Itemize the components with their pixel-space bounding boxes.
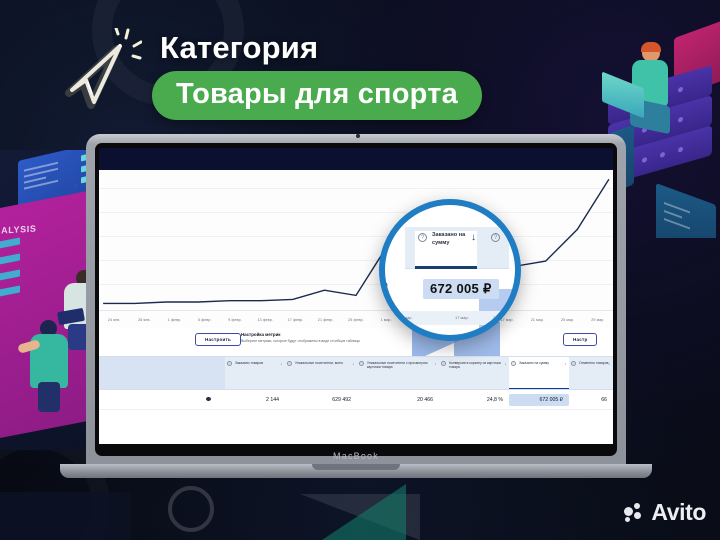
magnified-value: 672 005 ₽ <box>423 279 499 299</box>
laptop-mockup: 24 янв. 28 янв. 1 февр. 5 февр. 9 февр. … <box>86 134 626 484</box>
x-tick: 29 мар. <box>583 318 613 322</box>
arrow-down-icon[interactable]: ↓ <box>352 361 354 366</box>
table-header-cell[interactable]: ? ↓ Заказано товаров <box>225 357 285 389</box>
x-tick: 17 февр. <box>280 318 310 322</box>
watermark-ring <box>168 486 214 532</box>
question-circle-icon[interactable]: ? <box>491 233 500 242</box>
x-tick: 13 февр. <box>250 318 280 322</box>
laptop-screen: 24 янв. 28 янв. 1 февр. 5 февр. 9 февр. … <box>99 148 613 444</box>
table-cell: 2 144 <box>225 394 285 406</box>
x-tick: 21 мар. <box>522 318 552 322</box>
question-circle-icon[interactable]: ? <box>418 233 427 242</box>
illustration-caption: TA ANALYSIS <box>0 221 92 237</box>
analytics-chart: 24 янв. 28 янв. 1 февр. 5 февр. 9 февр. … <box>99 170 613 328</box>
laptop-model-label: MacBook <box>333 451 379 461</box>
question-circle-icon[interactable]: ? <box>287 361 292 366</box>
x-tick: 25 мар. <box>553 318 583 322</box>
arrow-down-icon[interactable]: ↓ <box>504 361 506 366</box>
question-circle-icon[interactable]: ? <box>511 361 516 366</box>
table-header-cell[interactable]: ? ↓ Уникальные посетители, всего <box>285 357 357 389</box>
laptop-base <box>60 464 652 478</box>
x-tick: 24 янв. <box>99 318 129 322</box>
cursor-arrow-click-icon <box>50 28 142 120</box>
x-tick: 17 мар. <box>455 315 469 320</box>
table-cell: 20 466 <box>357 394 439 406</box>
magnified-axis-strip: 1 мар. 17 мар. 21 мар. <box>393 311 519 325</box>
arrow-down-icon[interactable]: ↓ <box>280 361 282 366</box>
background-triangle-teal <box>322 484 406 540</box>
x-tick: 21 февр. <box>311 318 341 322</box>
arrow-down-icon[interactable]: ↓ <box>564 361 566 366</box>
table-header-label: Заказано на сумму <box>519 361 549 365</box>
question-circle-icon[interactable]: ? <box>441 361 446 366</box>
chart-line-series <box>99 170 613 310</box>
table-cell: 24,8 % <box>439 394 509 406</box>
metrics-toolbar: Настроить Настройка метрик Выберите метр… <box>99 328 613 356</box>
table-header-cell[interactable]: ? ↓ Конверсия в корзину из карточки това… <box>439 357 509 389</box>
webcam-icon <box>356 134 360 138</box>
magnifier-lens: ? ? ↓ Заказано на сумму % 672 005 ₽ 1 ма… <box>379 199 521 341</box>
table-header-spacer <box>99 357 225 389</box>
laptop-lid: 24 янв. 28 янв. 1 февр. 5 февр. 9 февр. … <box>86 134 626 470</box>
background-stripe <box>0 492 130 540</box>
x-tick: 1 мар. <box>401 315 413 320</box>
avito-logo: Avito <box>624 499 706 526</box>
illustration-bars <box>0 240 20 304</box>
arrow-down-icon[interactable]: ↓ <box>608 361 610 366</box>
chart-x-axis: 24 янв. 28 янв. 1 февр. 5 февр. 9 февр. … <box>99 310 613 328</box>
question-circle-icon[interactable]: ? <box>571 361 576 366</box>
table-header-cell[interactable]: ? ↓ Уникальные посетители с просмотром к… <box>357 357 439 389</box>
table-cell-indicator <box>99 394 225 406</box>
x-tick: 9 февр. <box>220 318 250 322</box>
table-cell: 66 <box>569 394 613 406</box>
row-marker-icon <box>206 397 211 401</box>
page-title: Категория <box>160 30 318 66</box>
table-header-label: Уникальные посетители с просмотром карто… <box>367 361 428 369</box>
table-header-cell-selected[interactable]: ? ↓ Заказано на сумму <box>509 357 569 389</box>
laptop-bezel: 24 янв. 28 янв. 1 февр. 5 февр. 9 февр. … <box>95 143 617 456</box>
illustration-panel-secondary <box>656 183 716 238</box>
table-header-label: Отменено товаров <box>579 361 609 365</box>
x-tick: 1 февр. <box>159 318 189 322</box>
magnified-header-label: Заказано на сумму <box>432 232 472 247</box>
app-header-bar <box>99 148 613 170</box>
avito-wordmark: Avito <box>651 499 706 526</box>
category-badge: Товары для спорта <box>152 71 482 120</box>
magnifier-content: ? ? ↓ Заказано на сумму % 672 005 ₽ 1 ма… <box>385 205 515 335</box>
arrow-down-icon[interactable]: ↓ <box>434 361 436 366</box>
question-circle-icon[interactable]: ? <box>359 361 364 366</box>
x-tick: 5 февр. <box>190 318 220 322</box>
dashboard-content: 24 янв. 28 янв. 1 февр. 5 февр. 9 февр. … <box>99 170 613 444</box>
table-header-row: ? ↓ Заказано товаров ? ↓ Уникальные посе… <box>99 356 613 390</box>
configure-button[interactable]: Настроить <box>195 333 241 346</box>
configure-button-secondary[interactable]: Настр <box>563 333 597 346</box>
table-cell-highlighted: 672 005 ₽ <box>509 394 569 406</box>
illustration-person-standing <box>28 320 74 410</box>
table-cell: 629 492 <box>285 394 357 406</box>
x-tick: 21 мар. <box>493 315 507 320</box>
question-circle-icon[interactable]: ? <box>227 361 232 366</box>
table-header-label: Заказано товаров <box>235 361 263 365</box>
table-header-cell[interactable]: ? ↓ Отменено товаров <box>569 357 613 389</box>
avito-dots-logo <box>624 503 646 523</box>
x-tick: 25 февр. <box>341 318 371 322</box>
laptop-notch <box>312 464 400 470</box>
table-header-label: Конверсия в корзину из карточки товара <box>449 361 501 369</box>
table-row[interactable]: 2 144 629 492 20 466 24,8 % 672 005 ₽ 66 <box>99 390 613 410</box>
metrics-table: ? ↓ Заказано товаров ? ↓ Уникальные посе… <box>99 356 613 410</box>
table-header-label: Уникальные посетители, всего <box>295 361 343 365</box>
x-tick: 28 янв. <box>129 318 159 322</box>
